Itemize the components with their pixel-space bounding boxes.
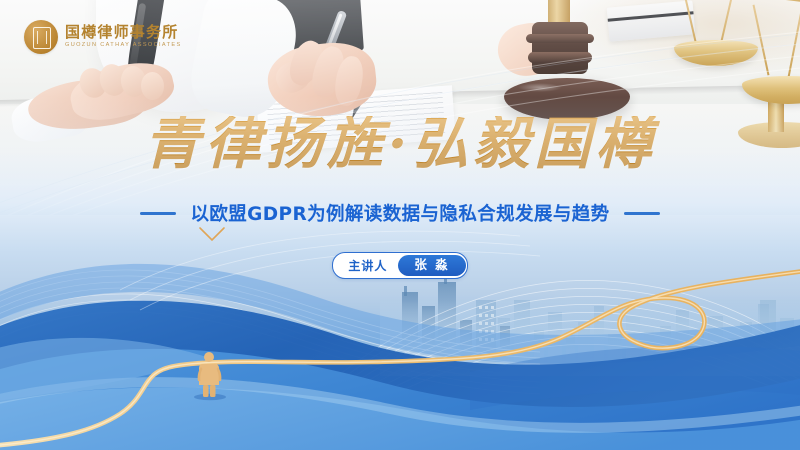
- speaker-name: 张 淼: [398, 255, 465, 277]
- page-subtitle: 以欧盟GDPR为例解读数据与隐私合规发展与趋势: [190, 200, 609, 226]
- subtitle-dash-right: [624, 212, 660, 215]
- brand-name-cn: 国樽律师事务所: [65, 25, 182, 40]
- bird-icon: [200, 228, 224, 240]
- subtitle-dash-left: [140, 212, 176, 215]
- speaker-badge-wrap: 主讲人 张 淼: [0, 252, 800, 279]
- speaker-badge[interactable]: 主讲人 张 淼: [332, 252, 467, 279]
- seal-icon: [24, 20, 58, 54]
- brand-logo[interactable]: 国樽律师事务所 GUOZUN CATHAY ASSOCIATES: [24, 20, 182, 54]
- speaker-role-label: 主讲人: [333, 257, 398, 274]
- brand-text: 国樽律师事务所 GUOZUN CATHAY ASSOCIATES: [65, 25, 182, 49]
- page-title: 青律扬旌·弘毅国樽: [0, 116, 800, 172]
- subtitle-row: 以欧盟GDPR为例解读数据与隐私合规发展与趋势: [0, 200, 800, 226]
- poster-canvas: 国樽律师事务所 GUOZUN CATHAY ASSOCIATES 青律扬旌·弘毅…: [0, 0, 800, 450]
- brand-name-en: GUOZUN CATHAY ASSOCIATES: [65, 43, 182, 49]
